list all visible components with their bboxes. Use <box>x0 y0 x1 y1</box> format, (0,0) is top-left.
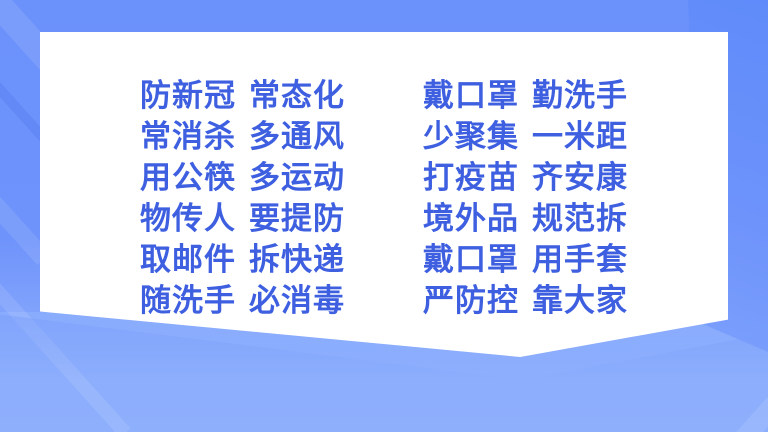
slogan-column-left: 防新冠 常态化 常消杀 多通风 用公筷 多运动 物传人 要提防 取邮件 拆快递 … <box>140 76 345 322</box>
slogan-phrase: 打疫苗 <box>423 158 519 199</box>
slogan-phrase: 用公筷 <box>140 158 236 199</box>
slogan-phrase: 靠大家 <box>532 281 628 322</box>
slogan-row: 严防控 靠大家 <box>423 281 628 322</box>
slogan-phrase: 用手套 <box>532 240 628 281</box>
slogan-phrase: 严防控 <box>423 281 519 322</box>
slogan-phrase: 要提防 <box>249 199 345 240</box>
slogan-phrase: 齐安康 <box>532 158 628 199</box>
slogan-row: 防新冠 常态化 <box>140 76 345 117</box>
slogan-row: 用公筷 多运动 <box>140 158 345 199</box>
slogan-phrase: 戴口罩 <box>423 76 519 117</box>
slogan-column-right: 戴口罩 勤洗手 少聚集 一米距 打疫苗 齐安康 境外品 规范拆 戴口罩 用手套 … <box>423 76 628 322</box>
slogan-row: 物传人 要提防 <box>140 199 345 240</box>
slogan-phrase: 戴口罩 <box>423 240 519 281</box>
slogan-phrase: 勤洗手 <box>532 76 628 117</box>
slogan-phrase: 拆快递 <box>249 240 345 281</box>
slogan-row: 戴口罩 勤洗手 <box>423 76 628 117</box>
slogan-phrase: 境外品 <box>423 199 519 240</box>
slogan-phrase: 常态化 <box>249 76 345 117</box>
slogan-row: 少聚集 一米距 <box>423 117 628 158</box>
slogan-phrase: 多运动 <box>249 158 345 199</box>
slogan-row: 随洗手 必消毒 <box>140 281 345 322</box>
slogan-phrase: 取邮件 <box>140 240 236 281</box>
slogan-phrase: 常消杀 <box>140 117 236 158</box>
slogan-row: 境外品 规范拆 <box>423 199 628 240</box>
slogan-grid: 防新冠 常态化 常消杀 多通风 用公筷 多运动 物传人 要提防 取邮件 拆快递 … <box>40 32 728 357</box>
slogan-phrase: 少聚集 <box>423 117 519 158</box>
slogan-phrase: 规范拆 <box>532 199 628 240</box>
slogan-row: 取邮件 拆快递 <box>140 240 345 281</box>
slogan-phrase: 防新冠 <box>140 76 236 117</box>
slogan-phrase: 物传人 <box>140 199 236 240</box>
slogan-row: 打疫苗 齐安康 <box>423 158 628 199</box>
slogan-phrase: 随洗手 <box>140 281 236 322</box>
slogan-row: 常消杀 多通风 <box>140 117 345 158</box>
slogan-phrase: 一米距 <box>532 117 628 158</box>
slogan-phrase: 必消毒 <box>249 281 345 322</box>
slogan-phrase: 多通风 <box>249 117 345 158</box>
slogan-row: 戴口罩 用手套 <box>423 240 628 281</box>
